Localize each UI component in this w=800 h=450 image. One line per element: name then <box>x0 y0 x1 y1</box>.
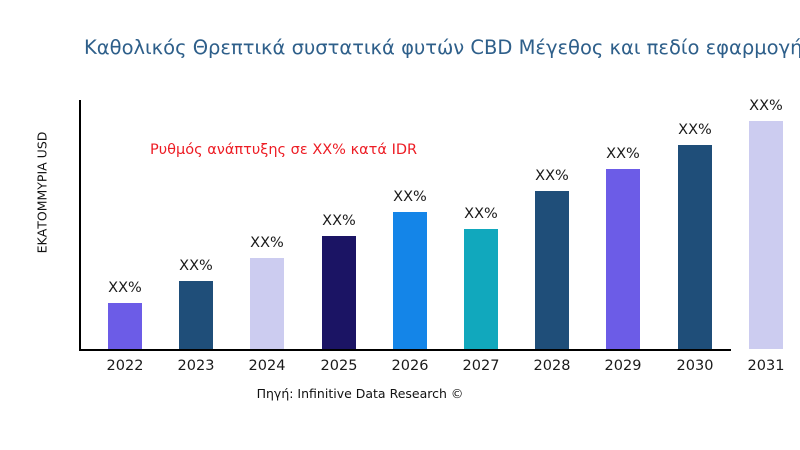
bar-value-label-2022: XX% <box>108 280 142 296</box>
bar-group: XX%2022 <box>108 0 142 450</box>
bar-group: XX%2024 <box>250 0 284 450</box>
bar-group: XX%2025 <box>322 0 356 450</box>
bar-2023[interactable] <box>179 281 213 349</box>
bar-group: XX%2027 <box>464 0 498 450</box>
bar-group: XX%2030 <box>678 0 712 450</box>
bar-group: XX%2026 <box>393 0 427 450</box>
bar-value-label-2027: XX% <box>464 206 498 222</box>
plot-area: XX%2022XX%2023XX%2024XX%2025XX%2026XX%20… <box>0 0 800 450</box>
bar-value-label-2030: XX% <box>678 122 712 138</box>
bar-2029[interactable] <box>606 169 640 349</box>
x-tick-label-2024: 2024 <box>249 358 286 374</box>
bar-2025[interactable] <box>322 236 356 349</box>
x-tick-label-2025: 2025 <box>321 358 358 374</box>
x-tick-label-2029: 2029 <box>605 358 642 374</box>
x-tick-label-2028: 2028 <box>534 358 571 374</box>
bar-group: XX%2023 <box>179 0 213 450</box>
bar-value-label-2024: XX% <box>250 235 284 251</box>
bar-2030[interactable] <box>678 145 712 349</box>
x-tick-label-2023: 2023 <box>178 358 215 374</box>
x-tick-label-2026: 2026 <box>392 358 429 374</box>
bar-2024[interactable] <box>250 258 284 349</box>
bar-2027[interactable] <box>464 229 498 349</box>
bar-group: XX%2031 <box>749 0 783 450</box>
bar-value-label-2028: XX% <box>535 168 569 184</box>
bar-value-label-2026: XX% <box>393 189 427 205</box>
growth-rate-annotation: Ρυθμός ανάπτυξης σε XX% κατά IDR <box>150 142 417 158</box>
bar-2022[interactable] <box>108 303 142 349</box>
bar-value-label-2025: XX% <box>322 213 356 229</box>
bar-value-label-2029: XX% <box>606 146 640 162</box>
bar-2026[interactable] <box>393 212 427 349</box>
x-tick-label-2031: 2031 <box>748 358 785 374</box>
source-caption: Πηγή: Infinitive Data Research © <box>0 386 720 401</box>
bar-2031[interactable] <box>749 121 783 349</box>
bar-group: XX%2028 <box>535 0 569 450</box>
bar-2028[interactable] <box>535 191 569 349</box>
bar-value-label-2023: XX% <box>179 258 213 274</box>
x-tick-label-2027: 2027 <box>463 358 500 374</box>
x-tick-label-2022: 2022 <box>107 358 144 374</box>
x-tick-label-2030: 2030 <box>677 358 714 374</box>
bar-group: XX%2029 <box>606 0 640 450</box>
bar-value-label-2031: XX% <box>749 98 783 114</box>
chart-figure: Καθολικός Θρεπτικά συστατικά φυτών CBD Μ… <box>0 0 800 450</box>
